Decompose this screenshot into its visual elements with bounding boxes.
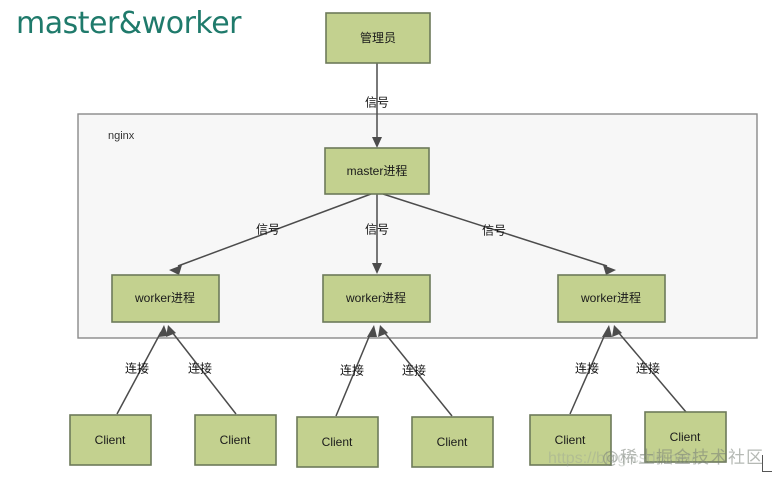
node-client-2[interactable]: Client [195,415,276,465]
page-title: master&worker [16,6,241,41]
edge-label-client-6: 连接 [636,361,660,376]
node-client-3-label: Client [322,435,353,449]
node-worker-process-2[interactable]: worker进程 [323,275,430,322]
node-client-4-label: Client [437,435,468,449]
node-client-5-label: Client [555,433,586,447]
node-worker-1-label: worker进程 [134,290,195,305]
node-client-1[interactable]: Client [70,415,151,465]
node-master-process[interactable]: master进程 [325,148,429,194]
node-admin-label: 管理员 [360,30,396,45]
node-client-4[interactable]: Client [412,417,493,467]
node-client-1-label: Client [95,433,126,447]
edge-label-client-3: 连接 [340,363,364,378]
node-worker-3-label: worker进程 [580,290,641,305]
edge-label-client-2: 连接 [188,361,212,376]
diagram-canvas: master&worker nginx 信号 信号 信号 信号 连接 连接 连接 [0,0,781,482]
node-worker-2-label: worker进程 [345,290,406,305]
node-client-3[interactable]: Client [297,417,378,467]
edge-label-master-to-worker-2: 信号 [365,223,389,237]
edge-label-master-to-worker-3: 信号 [482,224,506,238]
node-worker-process-1[interactable]: worker进程 [112,275,219,322]
node-client-2-label: Client [220,433,251,447]
architecture-diagram: nginx 信号 信号 信号 信号 连接 连接 连接 连接 [0,0,781,482]
node-admin[interactable]: 管理员 [326,13,430,63]
cursor-icon [762,455,772,472]
watermark-handle: @稀土掘金技术社区 [602,443,764,468]
edge-label-client-1: 连接 [125,361,149,376]
nginx-container-label: nginx [108,130,135,142]
edge-label-master-to-worker-1: 信号 [256,223,280,237]
edge-label-client-4: 连接 [402,363,426,378]
node-worker-process-3[interactable]: worker进程 [558,275,665,322]
edge-label-admin-to-master: 信号 [365,96,389,110]
node-master-label: master进程 [347,163,408,178]
edge-label-client-5: 连接 [575,361,599,376]
